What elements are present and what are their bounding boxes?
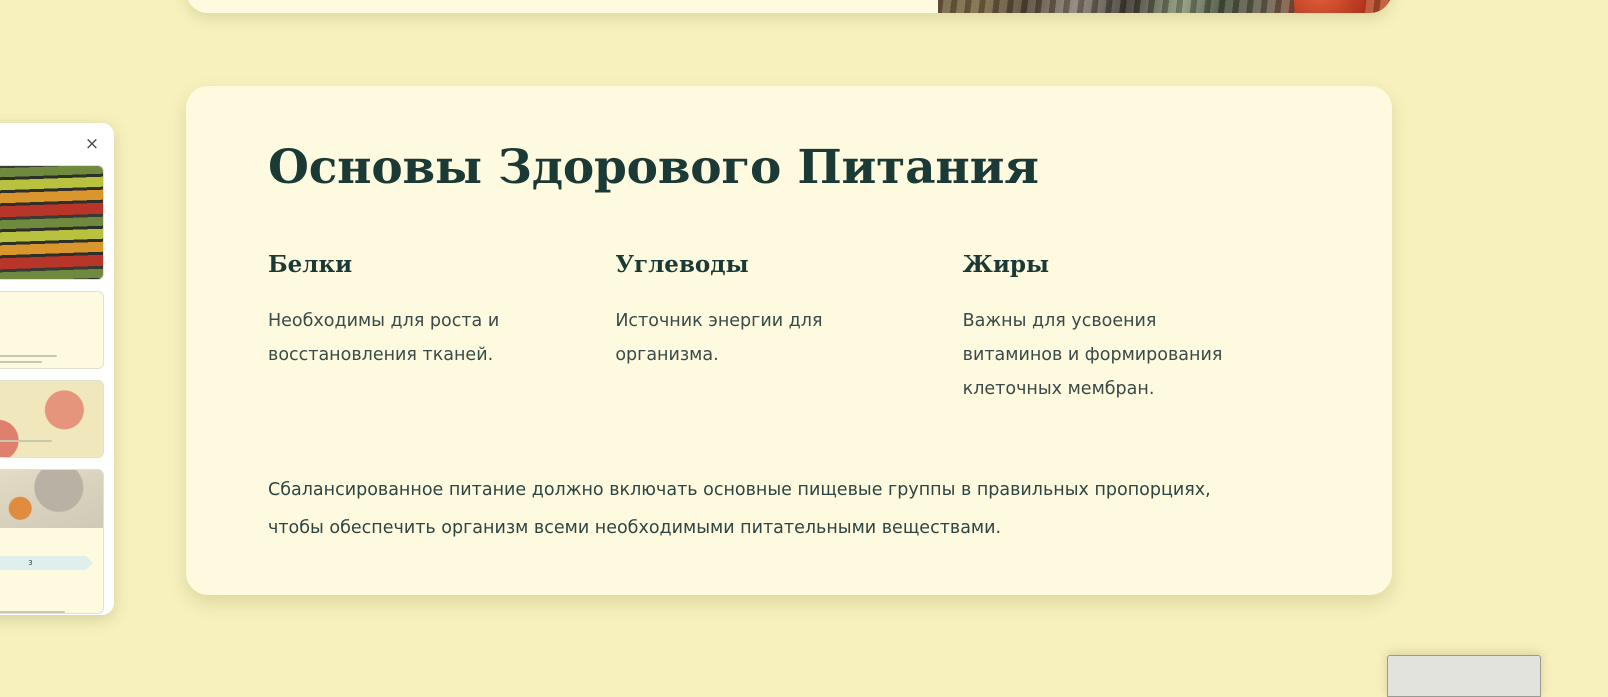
floating-toolbar[interactable] xyxy=(1387,655,1541,697)
nutrient-text-carbs: Источник энергии для организма. xyxy=(615,304,902,372)
previous-slide-content xyxy=(186,0,938,13)
slide-thumbnail-3[interactable]: ые Продукты xyxy=(0,380,104,458)
text-line xyxy=(0,361,42,363)
thumbnail-4-steps: 2 3 xyxy=(0,556,93,570)
nutrient-heading-fats: Жиры xyxy=(963,251,1250,279)
thumbnail-3-item xyxy=(0,409,93,434)
slide-thumbnail-4[interactable]: доровому Питанию 2 3 xyxy=(0,469,104,614)
nutrient-column-proteins: Белки Необходимы для роста и восстановле… xyxy=(268,251,615,407)
slide-thumbnail-1[interactable]: юч нию xyxy=(0,165,104,280)
previous-slide-card[interactable] xyxy=(186,0,1392,13)
slide-panel-header: × xyxy=(0,123,114,165)
step-badge-3: 3 xyxy=(0,556,93,570)
nutrient-text-fats: Важны для усвоения витаминов и формирова… xyxy=(963,304,1250,406)
thumbnail-1-photo xyxy=(0,166,103,279)
thumbnail-2-summary xyxy=(0,355,93,363)
thumbnail-2-title: ы Питания xyxy=(0,301,93,314)
slide-thumbnail-list: юч нию ы Питания xyxy=(0,165,114,614)
thumbnail-3-summary xyxy=(0,440,93,442)
nutrient-heading-proteins: Белки xyxy=(268,251,555,279)
thumbnail-4-body: доровому Питанию 2 3 xyxy=(0,528,103,614)
thumbnail-4-photo xyxy=(0,470,103,528)
slide-summary-text: Сбалансированное питание должно включать… xyxy=(268,471,1228,548)
text-line xyxy=(0,440,52,442)
thumbnail-4-columns xyxy=(0,577,93,603)
thumbnail-4-summary xyxy=(0,611,93,613)
slide-list-panel[interactable]: × юч нию ы Питания xyxy=(0,123,114,615)
slide-title: Основы Здорового Питания xyxy=(268,142,1310,195)
slide-canvas[interactable]: Основы Здорового Питания Белки Необходим… xyxy=(0,0,1608,667)
nutrient-heading-carbs: Углеводы xyxy=(615,251,902,279)
previous-slide-photo xyxy=(938,0,1392,13)
close-icon[interactable]: × xyxy=(82,134,102,154)
nutrient-column-carbs: Углеводы Источник энергии для организма. xyxy=(615,251,962,407)
thumbnail-2-columns xyxy=(0,321,93,347)
nutrient-column-fats: Жиры Важны для усвоения витаминов и форм… xyxy=(963,251,1310,407)
nutrient-text-proteins: Необходимы для роста и восстановления тк… xyxy=(268,304,555,372)
thumbnail-4-title: доровому Питанию xyxy=(0,536,93,549)
slide-thumbnail-2[interactable]: ы Питания xyxy=(0,291,104,369)
text-line xyxy=(0,611,65,613)
current-slide-card[interactable]: Основы Здорового Питания Белки Необходим… xyxy=(186,86,1392,595)
text-line xyxy=(0,355,57,357)
thumbnail-3-item-text xyxy=(0,409,93,434)
thumbnail-3-title: ые Продукты xyxy=(0,390,93,403)
nutrient-columns: Белки Необходимы для роста и восстановле… xyxy=(268,251,1310,407)
